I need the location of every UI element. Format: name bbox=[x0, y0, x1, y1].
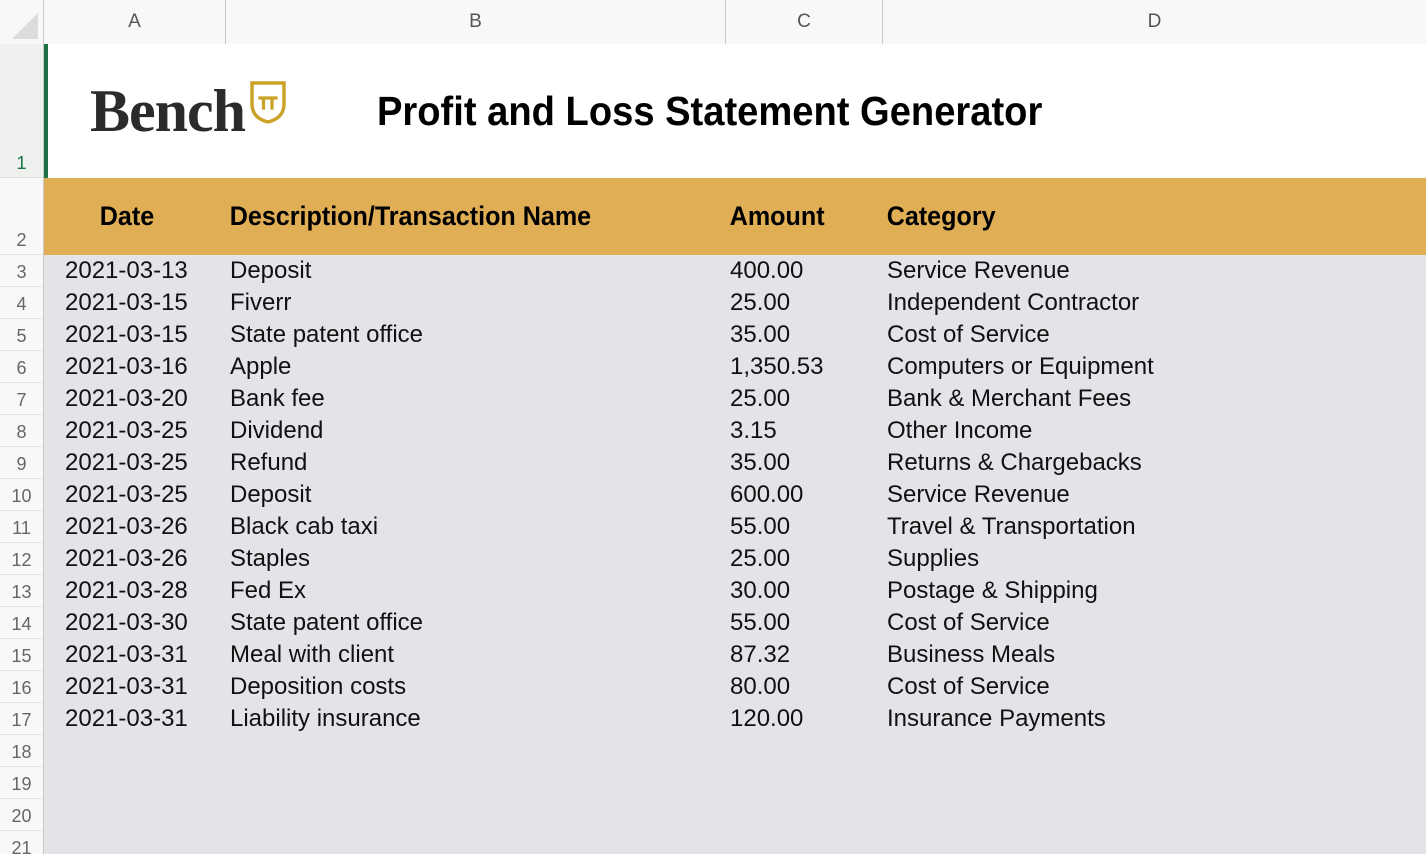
cell-date[interactable]: 2021-03-15 bbox=[44, 321, 226, 349]
cell-date[interactable]: 2021-03-20 bbox=[44, 385, 226, 413]
cell-description[interactable]: Refund bbox=[226, 449, 726, 477]
cell-description[interactable]: Bank fee bbox=[226, 385, 726, 413]
row-header-19[interactable]: 19 bbox=[0, 767, 43, 799]
cell-date[interactable]: 2021-03-25 bbox=[44, 417, 226, 445]
page-title: Profit and Loss Statement Generator bbox=[377, 88, 1042, 135]
table-row[interactable] bbox=[44, 735, 1426, 767]
column-header-b[interactable]: B bbox=[226, 0, 726, 44]
cell-description[interactable]: Staples bbox=[226, 545, 726, 573]
cell-date[interactable]: 2021-03-31 bbox=[44, 705, 226, 733]
table-row[interactable]: 2021-03-28Fed Ex30.00Postage & Shipping bbox=[44, 575, 1426, 607]
table-row[interactable]: 2021-03-30State patent office55.00Cost o… bbox=[44, 607, 1426, 639]
cell-date[interactable]: 2021-03-26 bbox=[44, 513, 226, 541]
cell-description[interactable]: State patent office bbox=[226, 321, 726, 349]
cell-description[interactable]: Liability insurance bbox=[226, 705, 726, 733]
cell-amount[interactable]: 55.00 bbox=[726, 513, 883, 541]
row-header-4[interactable]: 4 bbox=[0, 287, 43, 319]
cell-description[interactable]: Deposition costs bbox=[226, 673, 726, 701]
bench-logo: Bench bbox=[90, 80, 287, 142]
table-row[interactable] bbox=[44, 799, 1426, 831]
cell-category[interactable]: Returns & Chargebacks bbox=[883, 449, 1426, 477]
cell-amount[interactable]: 1,350.53 bbox=[726, 353, 883, 381]
bench-wordmark: Bench bbox=[90, 81, 245, 141]
row-header-2[interactable]: 2 bbox=[0, 178, 43, 255]
cell-date[interactable]: 2021-03-28 bbox=[44, 577, 226, 605]
cell-amount[interactable]: 25.00 bbox=[726, 385, 883, 413]
cell-date[interactable]: 2021-03-25 bbox=[44, 449, 226, 477]
table-row[interactable] bbox=[44, 767, 1426, 799]
row-header-21[interactable]: 21 bbox=[0, 831, 43, 854]
row-header-7[interactable]: 7 bbox=[0, 383, 43, 415]
cell-category[interactable]: Bank & Merchant Fees bbox=[883, 385, 1426, 413]
table-row[interactable]: 2021-03-31Meal with client87.32Business … bbox=[44, 639, 1426, 671]
cell-amount[interactable]: 25.00 bbox=[726, 289, 883, 317]
column-header-a[interactable]: A bbox=[44, 0, 226, 44]
cell-date[interactable]: 2021-03-26 bbox=[44, 545, 226, 573]
table-header-row: Date Description/Transaction Name Amount… bbox=[44, 178, 1426, 255]
row-header-10[interactable]: 10 bbox=[0, 479, 43, 511]
cell-category[interactable]: Computers or Equipment bbox=[883, 353, 1426, 381]
row-header-9[interactable]: 9 bbox=[0, 447, 43, 479]
cell-date[interactable]: 2021-03-31 bbox=[44, 641, 226, 669]
cell-description[interactable]: Apple bbox=[226, 353, 726, 381]
row-header-17[interactable]: 17 bbox=[0, 703, 43, 735]
table-header-date: Date bbox=[44, 201, 213, 232]
row-header-5[interactable]: 5 bbox=[0, 319, 43, 351]
table-row[interactable] bbox=[44, 831, 1426, 854]
cell-date[interactable]: 2021-03-16 bbox=[44, 353, 226, 381]
cell-category[interactable]: Cost of Service bbox=[883, 673, 1426, 701]
cell-date[interactable]: 2021-03-15 bbox=[44, 289, 226, 317]
cell-description[interactable]: Meal with client bbox=[226, 641, 726, 669]
table-row[interactable]: 2021-03-25Dividend3.15Other Income bbox=[44, 415, 1426, 447]
cell-description[interactable]: Fiverr bbox=[226, 289, 726, 317]
cell-description[interactable]: Black cab taxi bbox=[226, 513, 726, 541]
cell-date[interactable]: 2021-03-25 bbox=[44, 481, 226, 509]
cell-date[interactable]: 2021-03-30 bbox=[44, 609, 226, 637]
cell-amount[interactable]: 25.00 bbox=[726, 545, 883, 573]
table-row[interactable]: 2021-03-26Black cab taxi55.00Travel & Tr… bbox=[44, 511, 1426, 543]
row-header-8[interactable]: 8 bbox=[0, 415, 43, 447]
row-header-15[interactable]: 15 bbox=[0, 639, 43, 671]
cell-category[interactable]: Cost of Service bbox=[883, 321, 1426, 349]
row-header-20[interactable]: 20 bbox=[0, 799, 43, 831]
active-row-indicator bbox=[44, 44, 48, 178]
row-header-1[interactable]: 1 bbox=[0, 44, 43, 178]
cell-category[interactable]: Service Revenue bbox=[883, 257, 1426, 285]
cell-description[interactable]: Dividend bbox=[226, 417, 726, 445]
select-all-corner[interactable] bbox=[0, 0, 44, 44]
sheet-body: Bench Profit and Loss Statement Generato… bbox=[44, 44, 1426, 854]
table-body: 2021-03-13Deposit400.00Service Revenue20… bbox=[44, 255, 1426, 854]
cell-amount[interactable]: 120.00 bbox=[726, 705, 883, 733]
row-header-6[interactable]: 6 bbox=[0, 351, 43, 383]
table-row[interactable]: 2021-03-13Deposit400.00Service Revenue bbox=[44, 255, 1426, 287]
cell-amount[interactable]: 55.00 bbox=[726, 609, 883, 637]
cell-amount[interactable]: 87.32 bbox=[726, 641, 883, 669]
table-row[interactable]: 2021-03-15State patent office35.00Cost o… bbox=[44, 319, 1426, 351]
cell-date[interactable]: 2021-03-31 bbox=[44, 673, 226, 701]
row-header-11[interactable]: 11 bbox=[0, 511, 43, 543]
column-header-d[interactable]: D bbox=[883, 0, 1426, 44]
row-header-12[interactable]: 12 bbox=[0, 543, 43, 575]
row-header-13[interactable]: 13 bbox=[0, 575, 43, 607]
table-row[interactable]: 2021-03-25Deposit600.00Service Revenue bbox=[44, 479, 1426, 511]
cell-category[interactable]: Service Revenue bbox=[883, 481, 1426, 509]
row-number-gutter: 123456789101112131415161718192021 bbox=[0, 44, 44, 854]
cell-description[interactable]: Deposit bbox=[226, 481, 726, 509]
table-header-description: Description/Transaction Name bbox=[226, 201, 691, 232]
cell-description[interactable]: Deposit bbox=[226, 257, 726, 285]
spreadsheet-app: A B C D 12345678910111213141516171819202… bbox=[0, 0, 1426, 854]
row-header-18[interactable]: 18 bbox=[0, 735, 43, 767]
row-header-3[interactable]: 3 bbox=[0, 255, 43, 287]
title-row: Bench Profit and Loss Statement Generato… bbox=[44, 44, 1426, 178]
cell-category[interactable]: Postage & Shipping bbox=[883, 577, 1426, 605]
cell-amount[interactable]: 400.00 bbox=[726, 257, 883, 285]
table-row[interactable]: 2021-03-16Apple1,350.53Computers or Equi… bbox=[44, 351, 1426, 383]
table-row[interactable]: 2021-03-31Liability insurance120.00Insur… bbox=[44, 703, 1426, 735]
table-header-amount: Amount bbox=[726, 201, 872, 232]
column-header-row: A B C D bbox=[0, 0, 1426, 44]
cell-amount[interactable]: 600.00 bbox=[726, 481, 883, 509]
cell-category[interactable]: Insurance Payments bbox=[883, 705, 1426, 733]
cell-amount[interactable]: 3.15 bbox=[726, 417, 883, 445]
cell-amount[interactable]: 80.00 bbox=[726, 673, 883, 701]
table-row[interactable]: 2021-03-20Bank fee25.00Bank & Merchant F… bbox=[44, 383, 1426, 415]
cell-category[interactable]: Cost of Service bbox=[883, 609, 1426, 637]
table-row[interactable]: 2021-03-25Refund35.00Returns & Chargebac… bbox=[44, 447, 1426, 479]
select-all-triangle-icon bbox=[12, 13, 38, 39]
cell-amount[interactable]: 30.00 bbox=[726, 577, 883, 605]
cell-description[interactable]: Fed Ex bbox=[226, 577, 726, 605]
shield-pi-icon bbox=[249, 80, 287, 124]
table-row[interactable]: 2021-03-26Staples25.00Supplies bbox=[44, 543, 1426, 575]
cell-amount[interactable]: 35.00 bbox=[726, 449, 883, 477]
table-row[interactable]: 2021-03-31Deposition costs80.00Cost of S… bbox=[44, 671, 1426, 703]
cell-category[interactable]: Business Meals bbox=[883, 641, 1426, 669]
cell-category[interactable]: Supplies bbox=[883, 545, 1426, 573]
cell-category[interactable]: Other Income bbox=[883, 417, 1426, 445]
cell-description[interactable]: State patent office bbox=[226, 609, 726, 637]
cell-category[interactable]: Travel & Transportation bbox=[883, 513, 1426, 541]
row-header-14[interactable]: 14 bbox=[0, 607, 43, 639]
table-header-category: Category bbox=[883, 201, 1388, 232]
cell-date[interactable]: 2021-03-13 bbox=[44, 257, 226, 285]
cell-amount[interactable]: 35.00 bbox=[726, 321, 883, 349]
row-header-16[interactable]: 16 bbox=[0, 671, 43, 703]
table-row[interactable]: 2021-03-15Fiverr25.00Independent Contrac… bbox=[44, 287, 1426, 319]
column-header-c[interactable]: C bbox=[726, 0, 883, 44]
cell-category[interactable]: Independent Contractor bbox=[883, 289, 1426, 317]
